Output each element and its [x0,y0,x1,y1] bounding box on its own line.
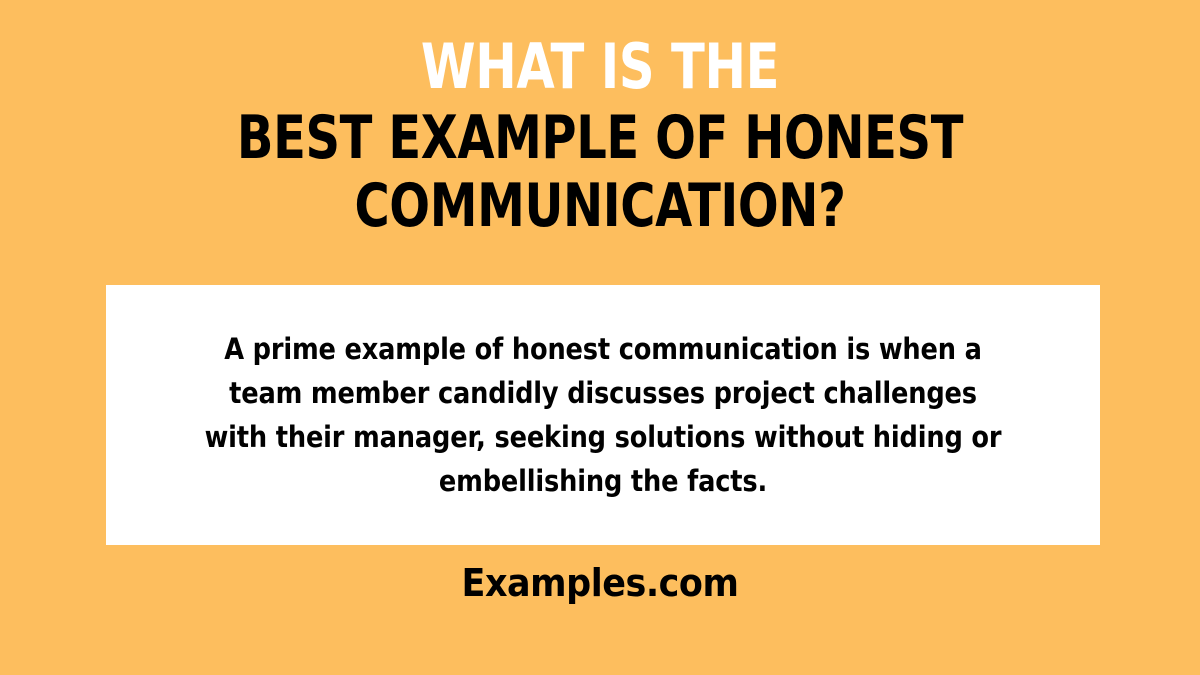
headline-block: WHAT IS THE BEST EXAMPLE OF HONEST COMMU… [0,36,1200,236]
body-paragraph: A prime example of honest communication … [202,327,1004,503]
content-card: A prime example of honest communication … [106,285,1100,545]
headline-line-1: WHAT IS THE [120,36,1080,98]
poster-canvas: WHAT IS THE BEST EXAMPLE OF HONEST COMMU… [0,0,1200,675]
headline-line-2: BEST EXAMPLE OF HONEST [120,108,1080,168]
brand-label: Examples.com [48,560,1152,606]
headline-line-3: COMMUNICATION? [120,176,1080,236]
